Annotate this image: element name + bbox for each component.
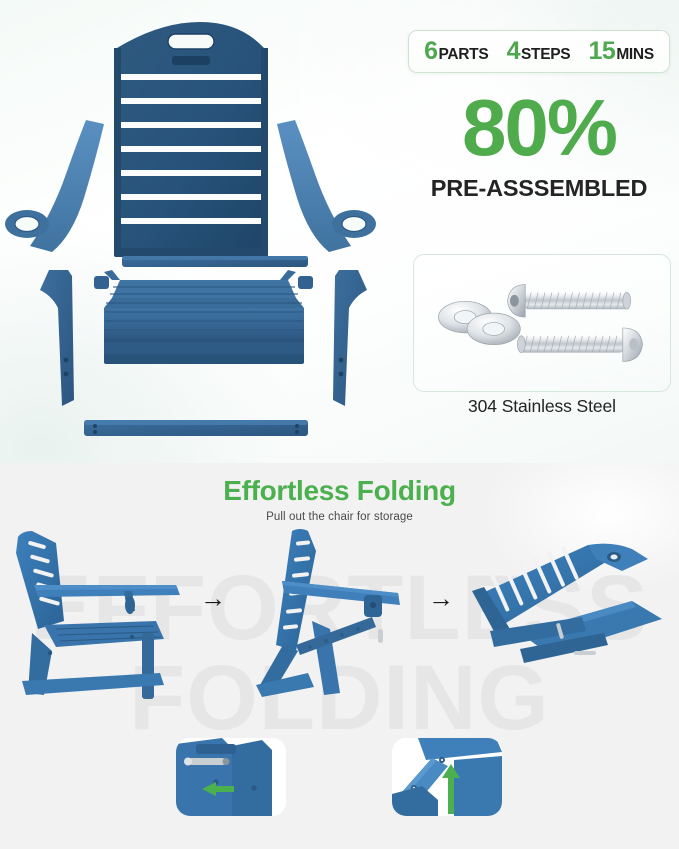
folding-arrow-2: → xyxy=(428,585,454,611)
stat-parts-number: 6 xyxy=(424,37,437,66)
stat-mins-unit: MINS xyxy=(616,46,654,64)
folding-title: Effortless Folding xyxy=(0,475,679,507)
stats-pill: 6 PARTS 4 STEPS 15 MINS xyxy=(408,30,670,73)
stat-mins: 15 MINS xyxy=(589,37,654,66)
leg-left xyxy=(40,270,74,406)
hardware-showcase-box xyxy=(413,254,671,392)
washer-icon xyxy=(467,313,520,345)
arm-lift-detail-callout xyxy=(392,738,502,816)
seat-assembly xyxy=(104,270,304,364)
hardware-caption: 304 Stainless Steel xyxy=(413,396,671,417)
product-infographic: 6 PARTS 4 STEPS 15 MINS 80% PRE-ASSSEMBL… xyxy=(0,0,679,849)
exploded-parts-diagram xyxy=(0,8,392,458)
folding-arrow-1: → xyxy=(200,585,226,611)
latch-release-detail-callout xyxy=(176,738,286,816)
pre-assembled-percent: 80% xyxy=(408,88,670,168)
stat-steps-unit: STEPS xyxy=(521,46,570,64)
stat-mins-number: 15 xyxy=(589,37,616,66)
armrest-left xyxy=(5,120,104,252)
stat-parts-unit: PARTS xyxy=(439,46,489,64)
pre-assembled-label: PRE-ASSSEMBLED xyxy=(408,175,670,202)
stat-steps: 4 STEPS xyxy=(507,37,571,66)
leg-right xyxy=(333,270,367,406)
bolt-icon xyxy=(508,285,631,318)
armrest-right xyxy=(277,120,376,252)
folding-subtitle: Pull out the chair for storage xyxy=(0,511,679,523)
bolt-icon xyxy=(517,328,642,362)
chair-folded-illustration xyxy=(462,525,677,710)
backrest-panel xyxy=(114,22,268,257)
stat-steps-number: 4 xyxy=(507,37,520,66)
stat-parts: 6 PARTS xyxy=(424,37,488,66)
chair-open-illustration xyxy=(4,525,204,710)
cross-brace xyxy=(84,420,308,436)
seat-top-bar xyxy=(122,256,308,267)
folding-section: EFFORTLESS FOLDING Effortless Folding Pu… xyxy=(0,463,679,849)
top-section: 6 PARTS 4 STEPS 15 MINS 80% PRE-ASSSEMBL… xyxy=(0,0,679,466)
folding-stage-row: → xyxy=(0,525,679,710)
chair-folding-illustration xyxy=(238,525,438,710)
